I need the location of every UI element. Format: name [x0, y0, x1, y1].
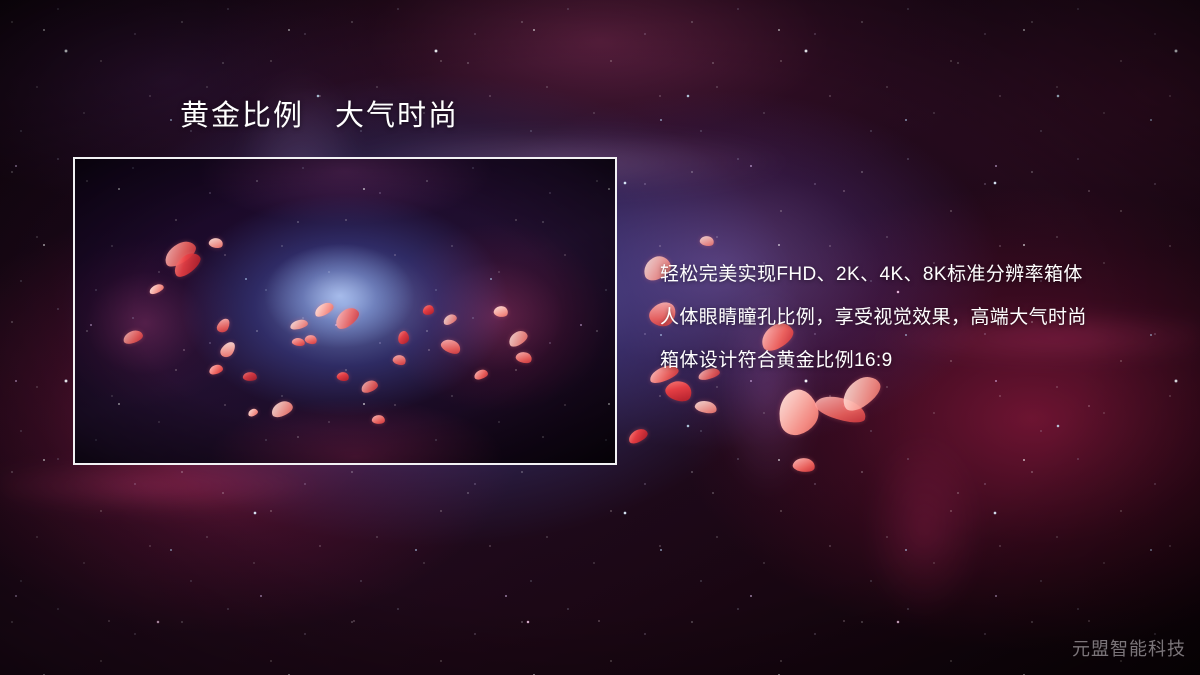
watermark-label: 元盟智能科技	[1072, 635, 1186, 661]
page-title: 黄金比例 大气时尚	[180, 101, 459, 133]
petal-shape	[694, 398, 718, 416]
petal-shape	[626, 427, 649, 446]
body-line-3: 箱体设计符合黄金比例16:9	[660, 339, 1180, 382]
body-copy-block: 轻松完美实现FHD、2K、4K、8K标准分辨率箱体 人体眼睛瞳孔比例，享受视觉效…	[660, 253, 1180, 382]
petal-shape	[813, 390, 869, 428]
petal-shape	[699, 234, 715, 248]
framed-photo-vignette	[75, 159, 615, 463]
body-line-2: 人体眼睛瞳孔比例，享受视觉效果，高端大气时尚	[660, 296, 1180, 339]
galaxy-photo-frame	[73, 157, 617, 465]
body-line-1: 轻松完美实现FHD、2K、4K、8K标准分辨率箱体	[660, 253, 1180, 296]
petal-shape	[773, 385, 824, 438]
petal-shape	[792, 456, 816, 474]
presentation-slide: 黄金比例 大气时尚 轻松完美实现FHD、2K、4K、8K标准分辨率箱体 人体眼睛…	[0, 0, 1200, 675]
